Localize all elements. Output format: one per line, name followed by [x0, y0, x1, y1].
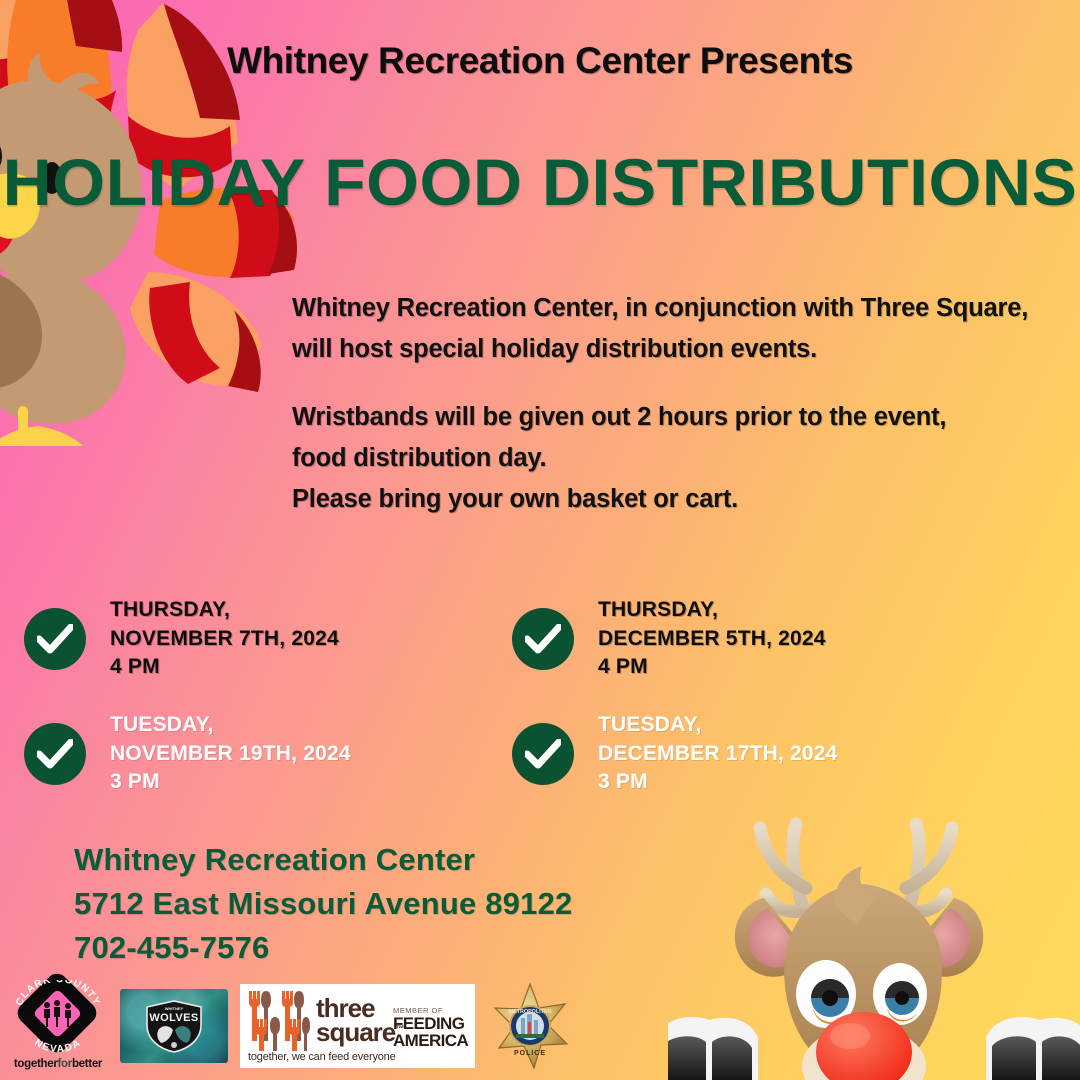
date-date: DECEMBER 5TH, 2024: [598, 625, 982, 654]
three-square-utensil-people-icon: [246, 989, 310, 1051]
svg-text:WOLVES: WOLVES: [149, 1012, 198, 1024]
body-paragraph-2: Wristbands will be given out 2 hours pri…: [292, 397, 1032, 521]
dates-column-november: THURSDAY, NOVEMBER 7TH, 2024 4 PM TUESDA…: [24, 596, 494, 815]
wristband-line-3: Please bring your own basket or cart.: [292, 485, 738, 513]
body-copy: Whitney Recreation Center, in conjunctio…: [292, 288, 1032, 520]
date-day: THURSDAY,: [598, 596, 982, 625]
check-circle-icon: [24, 608, 86, 670]
venue-address: 5712 East Missouri Avenue 89122: [74, 882, 572, 926]
date-date: DECEMBER 17TH, 2024: [598, 740, 982, 769]
page-title: HOLIDAY FOOD DISTRIBUTIONS: [0, 144, 1080, 220]
check-circle-icon: [512, 723, 574, 785]
date-text: THURSDAY, DECEMBER 5TH, 2024 4 PM: [598, 596, 982, 682]
svg-text:NEVADA: NEVADA: [32, 1037, 83, 1055]
date-day: THURSDAY,: [110, 596, 494, 625]
police-badge-icon: METROPOLITAN POLICE: [487, 982, 573, 1070]
date-text: THURSDAY, NOVEMBER 7TH, 2024 4 PM: [110, 596, 494, 682]
tagline-better: better: [72, 1058, 102, 1070]
partner-logos: CLARK COUNTY NEVADA togetherforbetter WH…: [8, 978, 573, 1074]
svg-text:CLARK COUNTY: CLARK COUNTY: [14, 980, 102, 1008]
contact-block: Whitney Recreation Center 5712 East Miss…: [74, 838, 572, 970]
tagline-for: for: [58, 1058, 72, 1070]
date-text: TUESDAY, NOVEMBER 19TH, 2024 3 PM: [110, 711, 494, 797]
clark-county-tagline: togetherforbetter: [8, 1058, 108, 1070]
logo-whitney-wolves: WHITNEY WOLVES: [120, 989, 228, 1063]
flyer-canvas: Whitney Recreation Center Presents HOLID…: [0, 0, 1080, 1080]
svg-text:WHITNEY: WHITNEY: [165, 1006, 184, 1011]
three-square-word-square: square™: [316, 1020, 403, 1045]
presents-line: Whitney Recreation Center Presents: [0, 40, 1080, 82]
america-label: AMERICA: [393, 1032, 471, 1049]
wristband-line-1: Wristbands will be given out 2 hours pri…: [292, 403, 946, 431]
date-item: THURSDAY, DECEMBER 5TH, 2024 4 PM: [512, 596, 982, 700]
check-circle-icon: [24, 723, 86, 785]
date-day: TUESDAY,: [110, 711, 494, 740]
logo-three-square: three square™ together, we can feed ever…: [240, 984, 475, 1068]
three-square-tagline: together, we can feed everyone: [248, 1051, 396, 1063]
feeding-label: FEEDING: [393, 1015, 471, 1032]
reindeer-illustration: [668, 780, 1080, 1080]
svg-text:METROPOLITAN: METROPOLITAN: [509, 1009, 552, 1015]
wolves-crest-icon: WHITNEY WOLVES: [143, 999, 205, 1053]
date-time: 4 PM: [110, 653, 494, 682]
date-time: 4 PM: [598, 653, 982, 682]
date-item: THURSDAY, NOVEMBER 7TH, 2024 4 PM: [24, 596, 494, 700]
body-paragraph-1: Whitney Recreation Center, in conjunctio…: [292, 288, 1032, 371]
venue-name: Whitney Recreation Center: [74, 838, 572, 882]
logo-clark-county: CLARK COUNTY NEVADA togetherforbetter: [8, 980, 108, 1072]
date-date: NOVEMBER 19TH, 2024: [110, 740, 494, 769]
logo-metropolitan-police: METROPOLITAN POLICE: [487, 982, 573, 1070]
date-date: NOVEMBER 7TH, 2024: [110, 625, 494, 654]
svg-text:POLICE: POLICE: [514, 1050, 546, 1057]
date-day: TUESDAY,: [598, 711, 982, 740]
check-circle-icon: [512, 608, 574, 670]
date-time: 3 PM: [110, 768, 494, 797]
date-item: TUESDAY, NOVEMBER 19TH, 2024 3 PM: [24, 711, 494, 815]
tagline-together: together: [14, 1058, 58, 1070]
feeding-america-lockup: MEMBER OF FEEDING AMERICA: [393, 1006, 471, 1050]
venue-phone: 702-455-7576: [74, 926, 572, 970]
wristband-line-2: food distribution day.: [292, 444, 546, 472]
